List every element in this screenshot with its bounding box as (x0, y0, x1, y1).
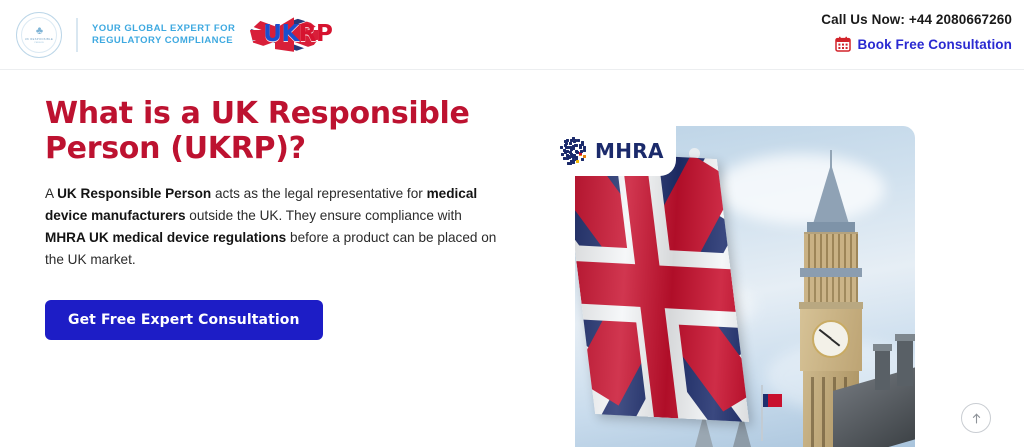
ukrp-logo-uk: UK (263, 21, 299, 47)
page-title: What is a UK Responsible Person (UKRP)? (45, 96, 505, 167)
para-text-2: acts as the legal representative for (211, 186, 426, 201)
mhra-dot-cluster-icon (558, 136, 588, 166)
brand-divider (76, 18, 78, 52)
tagline-line-2: REGULATORY COMPLIANCE (92, 35, 235, 47)
book-free-consultation-link[interactable]: Book Free Consultation (821, 36, 1012, 52)
clock-face (800, 309, 862, 371)
calendar-icon (835, 36, 851, 52)
para-text-3: outside the UK. They ensure compliance w… (186, 208, 462, 223)
tagline-line-1: YOUR GLOBAL EXPERT FOR (92, 23, 235, 35)
para-text-1: A (45, 186, 57, 201)
hero-description: A UK Responsible Person acts as the lega… (45, 183, 497, 271)
para-bold-3: MHRA UK medical device regulations (45, 230, 286, 245)
mhra-label: MHRA (595, 139, 664, 163)
site-header: ♣ UK RESPONSIBLE PERSON YOUR GLOBAL EXPE… (0, 0, 1024, 70)
brand-tagline: YOUR GLOBAL EXPERT FOR REGULATORY COMPLI… (92, 23, 235, 47)
chimney (897, 334, 913, 386)
hero-section: What is a UK Responsible Person (UKRP)? … (0, 70, 1024, 447)
page-root: ♣ UK RESPONSIBLE PERSON YOUR GLOBAL EXPE… (0, 0, 1024, 447)
call-us-now-text[interactable]: Call Us Now: +44 2080667260 (821, 12, 1012, 27)
scroll-to-top-button[interactable] (961, 403, 991, 433)
para-bold-1: UK Responsible Person (57, 186, 211, 201)
small-union-flag (763, 394, 782, 407)
brand-logo-group[interactable]: ♣ UK RESPONSIBLE PERSON YOUR GLOBAL EXPE… (16, 10, 337, 60)
company-seal-icon: ♣ UK RESPONSIBLE PERSON (16, 12, 62, 58)
mhra-badge: MHRA (548, 126, 676, 176)
hero-content: What is a UK Responsible Person (UKRP)? … (45, 96, 505, 340)
ukrp-logo-rp: RP (299, 21, 333, 47)
arrow-up-icon (970, 412, 983, 425)
ukrp-logo-icon: UKRP (245, 12, 337, 58)
get-free-expert-consultation-button[interactable]: Get Free Expert Consultation (45, 300, 323, 340)
book-free-consultation-label: Book Free Consultation (858, 37, 1012, 52)
header-contact-group: Call Us Now: +44 2080667260 (821, 12, 1012, 52)
chimney (875, 344, 890, 390)
